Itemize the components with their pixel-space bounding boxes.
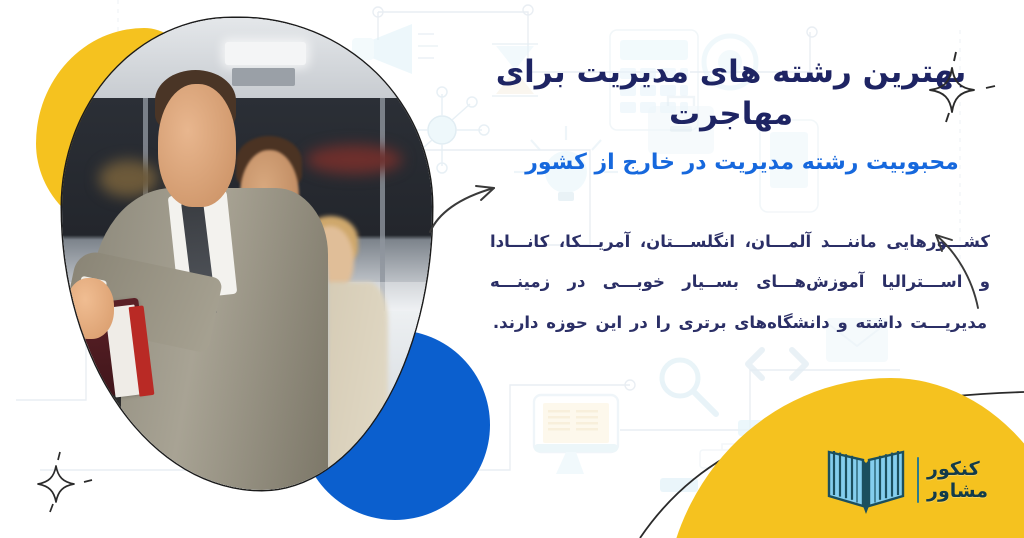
brand-logo-line1: کنکور bbox=[927, 458, 980, 480]
body-paragraph: کشـــورهایی ماننـــد آلمـــان، انگلســـت… bbox=[490, 222, 990, 343]
brand-logo-line2: مشاور bbox=[927, 480, 988, 502]
page-title: بهترین رشته های مدیریت برای مهاجرت bbox=[466, 52, 996, 136]
open-book-icon bbox=[823, 444, 909, 516]
subtitle: محبوبیت رشته مدیریت در خارج از کشور bbox=[488, 148, 996, 179]
hero-photo bbox=[62, 18, 432, 490]
brand-logo[interactable]: کنکور مشاور bbox=[823, 444, 988, 516]
brand-logo-text: کنکور مشاور bbox=[927, 458, 988, 503]
banner-root: بهترین رشته های مدیریت برای مهاجرت محبوب… bbox=[0, 0, 1024, 538]
logo-divider bbox=[917, 457, 920, 503]
